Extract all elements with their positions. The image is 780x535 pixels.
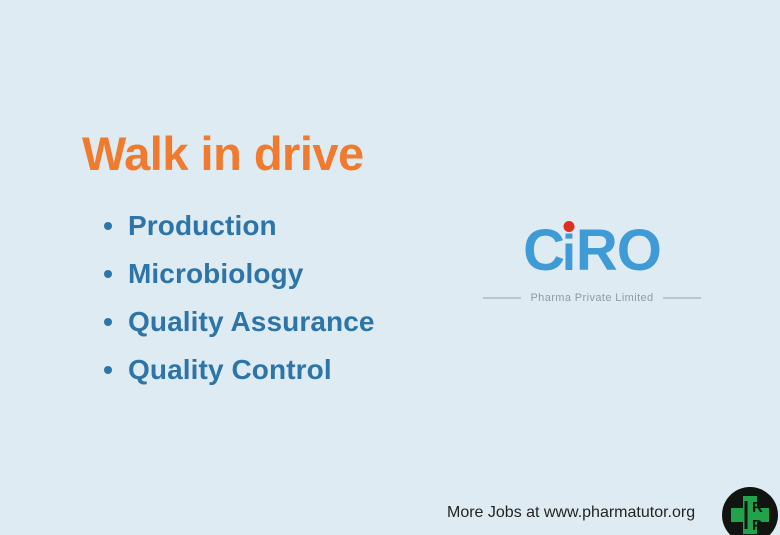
bullet-icon (104, 318, 112, 326)
list-item: Quality Assurance (104, 298, 375, 346)
footer-source-text: More Jobs at www.pharmatutor.org (447, 504, 695, 522)
logo-dot-icon (563, 221, 574, 232)
logo-letter-i: i (562, 225, 576, 281)
svg-text:R: R (752, 499, 763, 516)
job-title-production: Production (128, 210, 277, 242)
bullet-icon (104, 366, 112, 374)
job-title-microbiology: Microbiology (128, 258, 303, 290)
job-title-quality-control: Quality Control (128, 354, 332, 386)
tagline-rule-left (483, 297, 521, 299)
page-title: Walk in drive (82, 130, 364, 177)
list-item: Quality Control (104, 346, 375, 394)
logo-letters-ro: RO (576, 218, 661, 283)
tagline-rule-right (663, 297, 701, 299)
bullet-icon (104, 222, 112, 230)
logo-letter-c: C (523, 218, 562, 283)
company-logo: CiRO Pharma Private Limited (466, 222, 718, 304)
company-tagline: Pharma Private Limited (530, 292, 653, 304)
svg-text:P: P (752, 517, 762, 534)
pharmatutor-logo-icon: R P (722, 487, 778, 535)
job-openings-list: Production Microbiology Quality Assuranc… (104, 202, 375, 394)
company-logo-wordmark: CiRO (466, 222, 718, 284)
list-item: Production (104, 202, 375, 250)
company-logo-tagline-row: Pharma Private Limited (466, 292, 718, 304)
list-item: Microbiology (104, 250, 375, 298)
logo-letter-i-glyph: i (562, 225, 576, 281)
poster-canvas: Walk in drive Production Microbiology Qu… (0, 0, 780, 535)
bullet-icon (104, 270, 112, 278)
job-title-quality-assurance: Quality Assurance (128, 306, 375, 338)
